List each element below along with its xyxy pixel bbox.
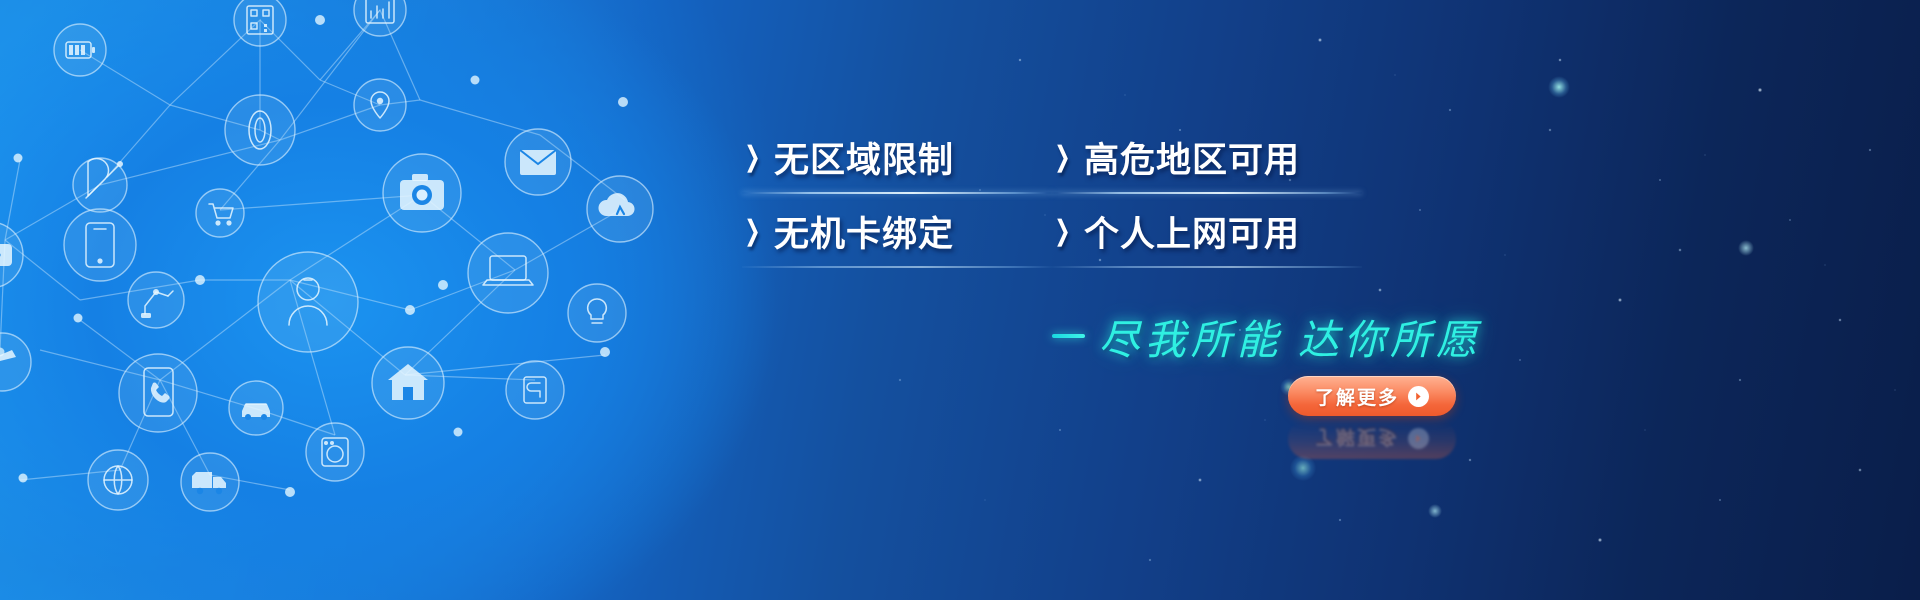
node-bar-chart-icon: [354, 0, 406, 36]
arrow-right-circle-icon: [1408, 386, 1429, 407]
feature-label: 高危地区可用: [1084, 132, 1300, 183]
feature-item-high-risk-area[interactable]: ❯ 高危地区可用: [1052, 120, 1362, 194]
node-door-icon: [506, 361, 564, 419]
cta-container: 了解更多 了解更多: [1288, 376, 1456, 459]
feature-row-2: ❯ 无机卡绑定 ❯ 个人上网可用: [742, 194, 1362, 268]
tagline: 尽我所能 达你所愿: [1052, 306, 1482, 366]
node-satellite-dish-icon: [73, 158, 127, 212]
tagline-dash-icon: [1052, 334, 1085, 338]
node-home-icon: [372, 347, 444, 419]
node-globe-icon: [88, 450, 148, 510]
star-glow-4: [1738, 240, 1754, 256]
learn-more-label-reflection: 了解更多: [1315, 426, 1399, 453]
node-shopping-cart-icon: [196, 189, 244, 237]
node-cloud-upload-icon: [587, 176, 653, 242]
node-battery-icon: [54, 24, 106, 76]
feature-underline: [1052, 266, 1362, 268]
node-airplane-icon: [0, 333, 31, 391]
starfield-layer-secondary: [0, 0, 1920, 600]
node-washing-machine-icon: [306, 423, 364, 481]
feature-item-no-region-limit[interactable]: ❯ 无区域限制: [742, 120, 1052, 194]
feature-item-personal-internet[interactable]: ❯ 个人上网可用: [1052, 194, 1362, 268]
feature-grid: ❯ 无区域限制 ❯ 高危地区可用 ❯ 无机卡绑定 ❯ 个人上网可用: [742, 120, 1362, 268]
feature-row-1: ❯ 无区域限制 ❯ 高危地区可用: [742, 120, 1362, 194]
node-lightbulb-icon: [568, 284, 626, 342]
feature-underline: [742, 266, 1052, 268]
feature-label: 无机卡绑定: [774, 206, 954, 257]
feature-label: 个人上网可用: [1084, 206, 1300, 257]
chevron-right-icon: ❯: [1054, 143, 1070, 171]
node-truck-icon: [181, 453, 239, 511]
promo-banner: .ln{stroke:rgba(214,238,255,.42);stroke-…: [0, 0, 1920, 600]
node-chat-bubble-icon: [0, 222, 23, 288]
learn-more-label: 了解更多: [1315, 383, 1399, 410]
node-fingerprint-icon: [225, 95, 295, 165]
node-envelope-icon: [505, 129, 571, 195]
node-tablet-icon: [64, 209, 136, 281]
iot-network-diagram: .ln{stroke:rgba(214,238,255,.42);stroke-…: [0, 0, 700, 600]
node-camera-icon: [383, 154, 461, 232]
node-user-profile-icon: [258, 252, 358, 352]
star-glow-5: [1428, 504, 1442, 518]
tagline-text: 尽我所能 达你所愿: [1099, 306, 1482, 366]
feature-label: 无区域限制: [774, 132, 954, 183]
arrow-right-circle-icon-reflection: [1408, 429, 1429, 450]
node-smartphone-call-icon: [119, 354, 197, 432]
node-laptop-icon: [468, 233, 548, 313]
chevron-right-icon: ❯: [744, 217, 760, 245]
chevron-right-icon: ❯: [1054, 217, 1070, 245]
feature-item-no-sim-binding[interactable]: ❯ 无机卡绑定: [742, 194, 1052, 268]
node-robot-arm-icon: [128, 272, 184, 328]
learn-more-button[interactable]: 了解更多: [1288, 376, 1456, 416]
node-qr-code-icon: [234, 0, 286, 46]
node-car-icon: [229, 381, 283, 435]
node-map-pin-icon: [354, 79, 406, 131]
star-glow-1: [1548, 76, 1570, 98]
starfield-layer-primary: [0, 0, 1920, 600]
chevron-right-icon: ❯: [744, 143, 760, 171]
learn-more-button-reflection: 了解更多: [1288, 419, 1456, 459]
